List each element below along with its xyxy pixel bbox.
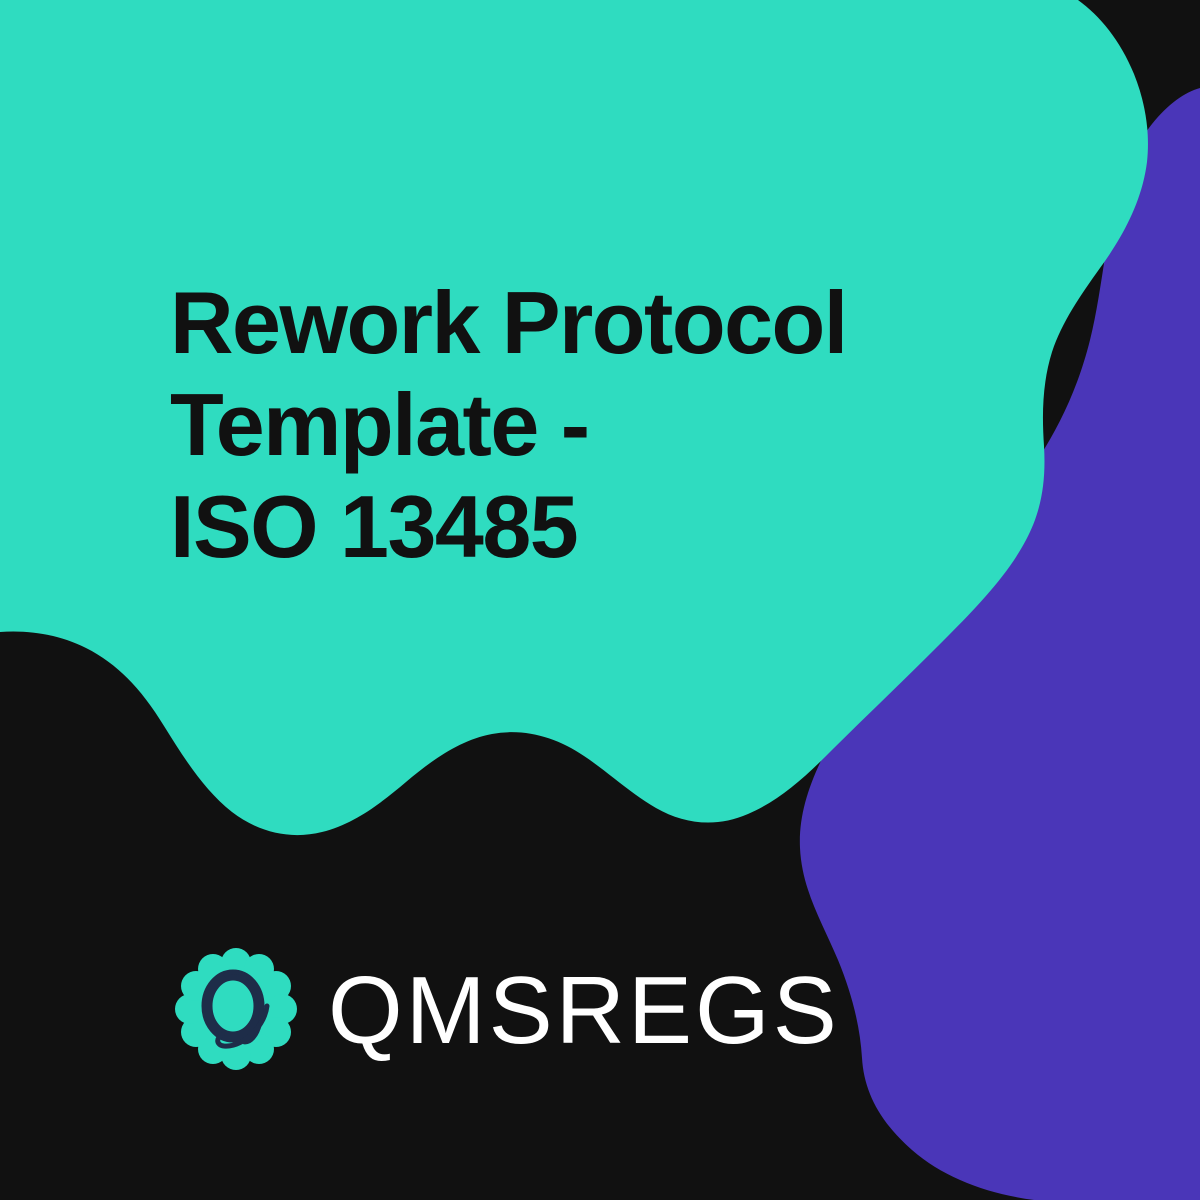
- title-line-3: ISO 13485: [170, 476, 890, 578]
- badge-scallop-shape: [175, 948, 297, 1070]
- brand-wordmark: QMSREGS: [328, 963, 840, 1059]
- brand-lockup: QMSREGS: [172, 945, 840, 1073]
- scalloped-badge-icon: [172, 945, 300, 1073]
- poster-title: Rework Protocol Template - ISO 13485: [170, 272, 890, 578]
- title-line-1: Rework Protocol: [170, 272, 890, 374]
- poster-canvas: Rework Protocol Template - ISO 13485: [0, 0, 1200, 1200]
- title-line-2: Template -: [170, 374, 890, 476]
- brand-badge: [172, 945, 300, 1073]
